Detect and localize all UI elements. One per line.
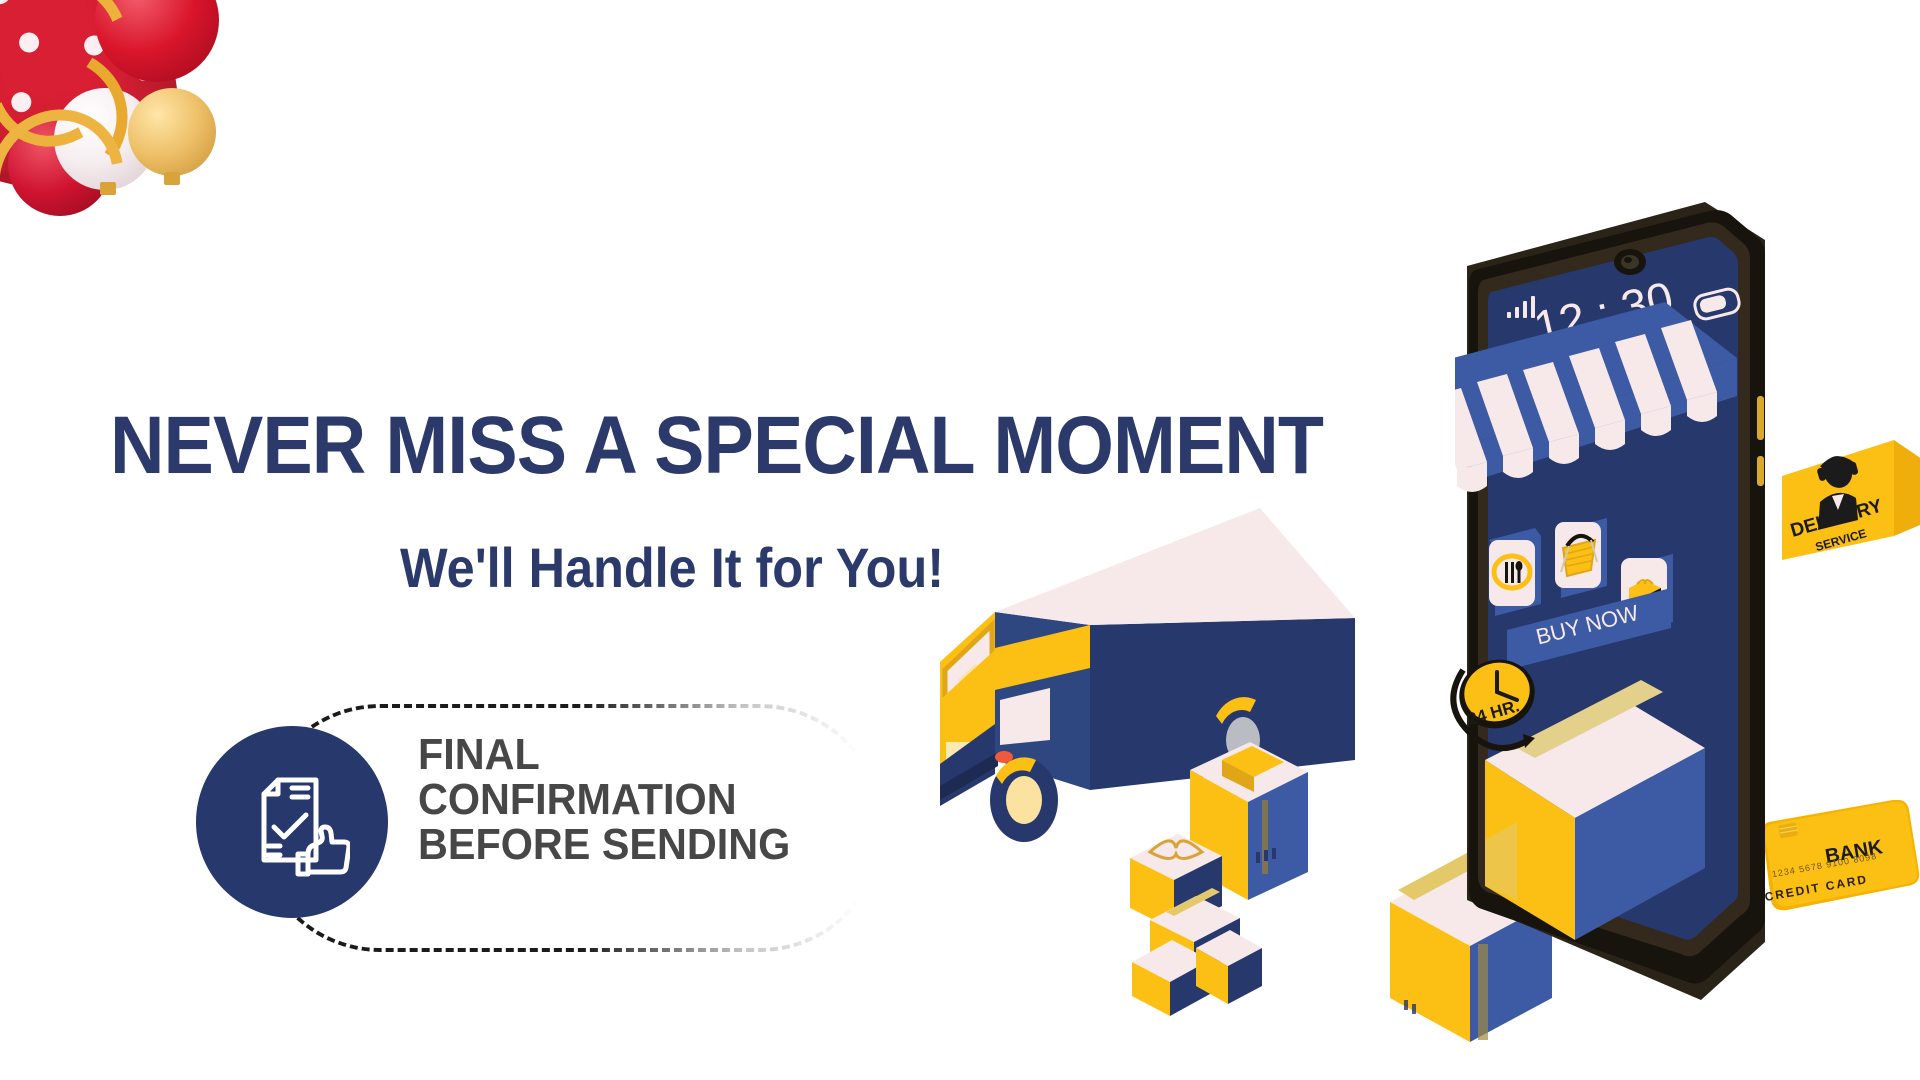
- app-tile-restaurant[interactable]: [1489, 528, 1541, 616]
- smartphone-mockup: 12 : 30 MONDAY: [1455, 200, 1785, 1000]
- camera-icon: [1614, 249, 1646, 275]
- bank-credit-card: BANK 1234 5678 9100 8098 CREDIT CARD: [1765, 800, 1920, 930]
- truck-wheel-front: [990, 757, 1058, 842]
- app-tile-basket[interactable]: [1555, 518, 1607, 598]
- stacked-parcels-illustration: [1130, 742, 1308, 1016]
- delivery-service-tag: DELIVERY SERVICE: [1782, 440, 1920, 560]
- promo-banner: NEVER MISS A SPECIAL MOMENT We'll Handle…: [0, 0, 1920, 1080]
- 24hr-clock-badge: 24 HR.: [1443, 638, 1563, 758]
